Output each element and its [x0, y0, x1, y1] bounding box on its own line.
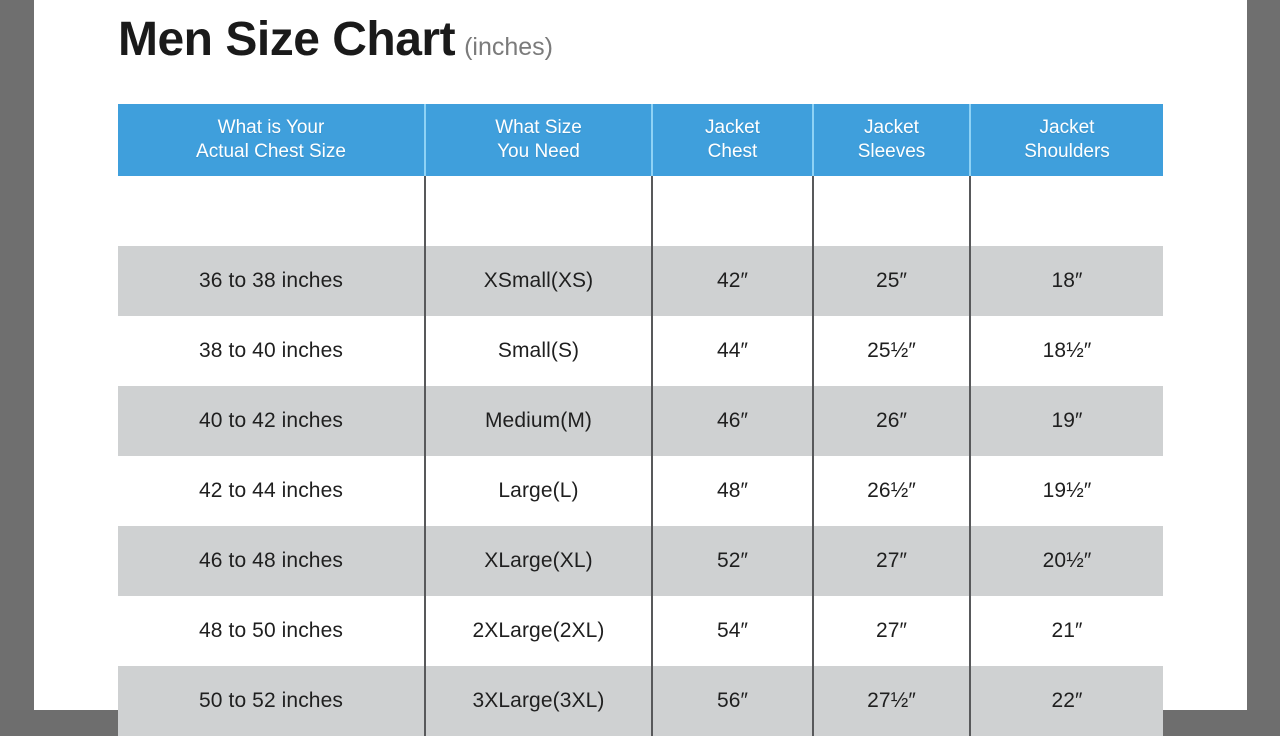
table-row: 50 to 52 inches 3XLarge(3XL) 56″ 27½″ 22…: [118, 666, 1163, 736]
cell-jacket-sleeves: 27″: [813, 526, 970, 596]
cell-actual-chest-size: 50 to 52 inches: [118, 666, 425, 736]
page-title: Men Size Chart (inches): [118, 16, 553, 64]
table-header-row: What is Your Actual Chest Size What Size…: [118, 104, 1163, 176]
column-header-size-you-need: What Size You Need: [425, 104, 652, 176]
column-header-jacket-chest: Jacket Chest: [652, 104, 813, 176]
cell-jacket-shoulders: 19½″: [970, 456, 1163, 526]
letterbox-left-bar: [0, 0, 34, 710]
cell-jacket-sleeves: 26″: [813, 386, 970, 456]
table-row: 36 to 38 inches XSmall(XS) 42″ 25″ 18″: [118, 246, 1163, 316]
cell-jacket-shoulders: 18″: [970, 246, 1163, 316]
table-header: What is Your Actual Chest Size What Size…: [118, 104, 1163, 176]
column-header-line1: What Size: [426, 116, 651, 140]
cell-size-you-need: 3XLarge(3XL): [425, 666, 652, 736]
cell-jacket-chest: 54″: [652, 596, 813, 666]
slide-screen: Men Size Chart (inches) What is Your Act…: [0, 0, 1280, 710]
column-header-jacket-sleeves: Jacket Sleeves: [813, 104, 970, 176]
table-row: 46 to 48 inches XLarge(XL) 52″ 27″ 20½″: [118, 526, 1163, 596]
letterbox-right-bar: [1247, 0, 1280, 710]
column-header-line1: What is Your: [118, 116, 424, 140]
cell-size-you-need: Large(L): [425, 456, 652, 526]
table-row: 42 to 44 inches Large(L) 48″ 26½″ 19½″: [118, 456, 1163, 526]
column-header-line2: Chest: [653, 140, 812, 164]
cell-jacket-shoulders: 20½″: [970, 526, 1163, 596]
cell-actual-chest-size: 36 to 38 inches: [118, 246, 425, 316]
cell-actual-chest-size: 48 to 50 inches: [118, 596, 425, 666]
column-header-line2: Shoulders: [971, 140, 1163, 164]
cell-jacket-shoulders: 19″: [970, 386, 1163, 456]
cell-size-you-need: 2XLarge(2XL): [425, 596, 652, 666]
header-gap-cell: [970, 176, 1163, 246]
column-header-line2: You Need: [426, 140, 651, 164]
cell-jacket-sleeves: 27″: [813, 596, 970, 666]
column-header-line1: Jacket: [814, 116, 969, 140]
cell-jacket-shoulders: 22″: [970, 666, 1163, 736]
cell-jacket-chest: 44″: [652, 316, 813, 386]
cell-size-you-need: XLarge(XL): [425, 526, 652, 596]
cell-jacket-chest: 48″: [652, 456, 813, 526]
cell-actual-chest-size: 40 to 42 inches: [118, 386, 425, 456]
cell-jacket-sleeves: 26½″: [813, 456, 970, 526]
header-gap-row: [118, 176, 1163, 246]
column-header-actual-chest-size: What is Your Actual Chest Size: [118, 104, 425, 176]
cell-size-you-need: Small(S): [425, 316, 652, 386]
cell-jacket-chest: 42″: [652, 246, 813, 316]
page-title-unit: (inches): [464, 35, 553, 60]
cell-jacket-chest: 56″: [652, 666, 813, 736]
cell-actual-chest-size: 38 to 40 inches: [118, 316, 425, 386]
page-title-main: Men Size Chart: [118, 16, 455, 64]
cell-jacket-sleeves: 25½″: [813, 316, 970, 386]
cell-jacket-shoulders: 21″: [970, 596, 1163, 666]
column-header-line2: Actual Chest Size: [118, 140, 424, 164]
cell-size-you-need: XSmall(XS): [425, 246, 652, 316]
cell-size-you-need: Medium(M): [425, 386, 652, 456]
header-gap-cell: [813, 176, 970, 246]
table-row: 38 to 40 inches Small(S) 44″ 25½″ 18½″: [118, 316, 1163, 386]
cell-actual-chest-size: 46 to 48 inches: [118, 526, 425, 596]
column-header-jacket-shoulders: Jacket Shoulders: [970, 104, 1163, 176]
cell-jacket-sleeves: 27½″: [813, 666, 970, 736]
header-gap-cell: [652, 176, 813, 246]
cell-jacket-chest: 46″: [652, 386, 813, 456]
column-header-line2: Sleeves: [814, 140, 969, 164]
size-chart-table: What is Your Actual Chest Size What Size…: [118, 104, 1163, 736]
header-gap-cell: [425, 176, 652, 246]
cell-actual-chest-size: 42 to 44 inches: [118, 456, 425, 526]
column-header-line1: Jacket: [653, 116, 812, 140]
header-gap-cell: [118, 176, 425, 246]
table-row: 40 to 42 inches Medium(M) 46″ 26″ 19″: [118, 386, 1163, 456]
table-body: 36 to 38 inches XSmall(XS) 42″ 25″ 18″ 3…: [118, 176, 1163, 736]
cell-jacket-chest: 52″: [652, 526, 813, 596]
column-header-line1: Jacket: [971, 116, 1163, 140]
cell-jacket-sleeves: 25″: [813, 246, 970, 316]
table-row: 48 to 50 inches 2XLarge(2XL) 54″ 27″ 21″: [118, 596, 1163, 666]
cell-jacket-shoulders: 18½″: [970, 316, 1163, 386]
slide-canvas: Men Size Chart (inches) What is Your Act…: [34, 0, 1247, 710]
